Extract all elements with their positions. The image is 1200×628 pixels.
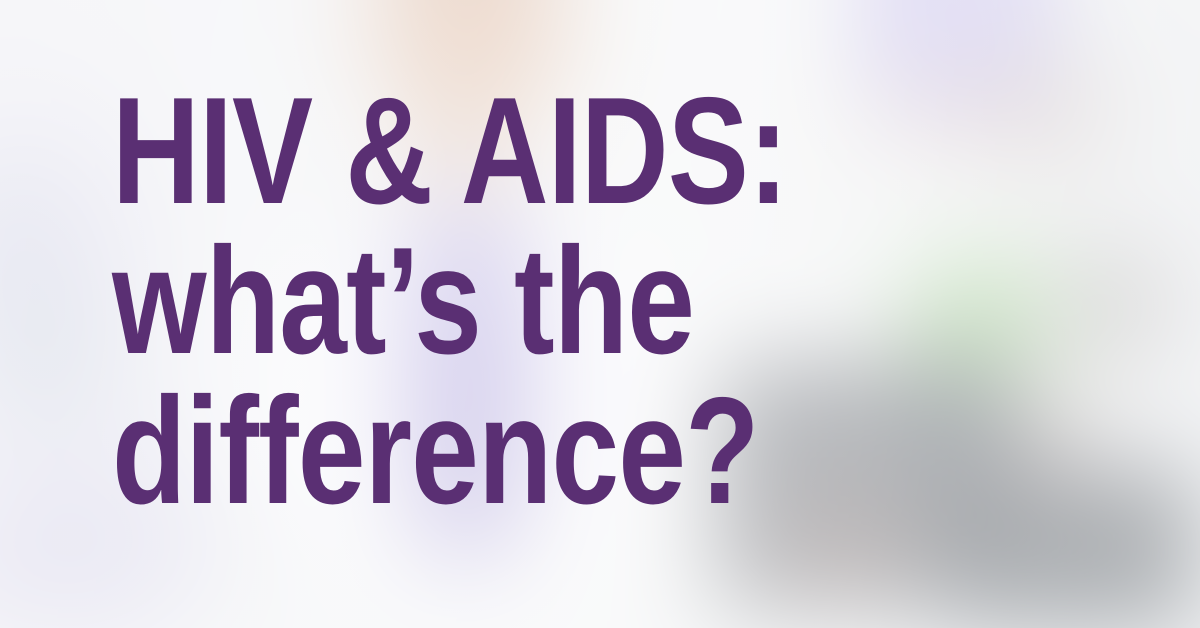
headline-block: HIV & AIDS: what’s the difference? — [112, 76, 972, 526]
wall-sign-notch-blur — [931, 0, 982, 68]
share-banner: HIV & AIDS: what’s the difference? — [0, 0, 1200, 628]
dark-desk-edge-blur — [950, 469, 1194, 628]
headline-line-1: HIV & AIDS: — [112, 76, 800, 226]
headline-line-3: difference? — [112, 376, 800, 526]
headline-line-2: what’s the — [112, 226, 800, 376]
shelf-shadow-blur — [960, 24, 1151, 204]
